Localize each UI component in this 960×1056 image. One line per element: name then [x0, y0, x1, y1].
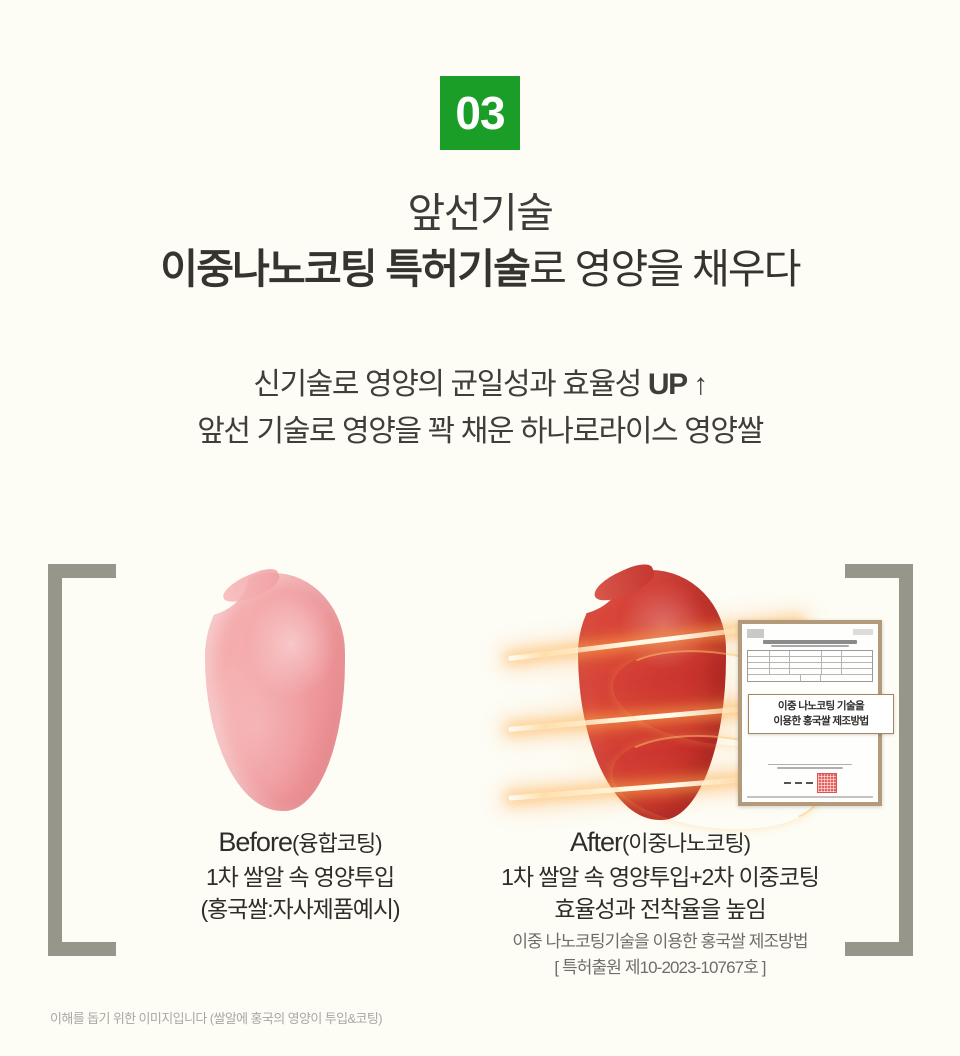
caption-after-line-1: 1차 쌀알 속 영양투입+2차 이중코팅 [440, 861, 880, 893]
certificate-topbar [747, 629, 873, 638]
rice-grain-after-image [578, 570, 726, 820]
certificate-callout-line-2: 이용한 홍국쌀 제조방법 [754, 714, 888, 729]
heading-block: 앞선기술 이중나노코팅 특허기술로 영양을 채우다 [0, 188, 960, 294]
section-number-text: 03 [455, 90, 504, 136]
caption-before-line-1: 1차 쌀알 속 영양투입 [120, 861, 480, 893]
certificate-subtitle-line [771, 645, 849, 648]
subheading-line-1: 신기술로 영양의 균일성과 효율성 UP ↑ [0, 362, 960, 409]
subheading-line-1-emphasis: UP ↑ [648, 368, 707, 401]
caption-before: Before(융합코팅) 1차 쌀알 속 영양투입 (홍국쌀:자사제품예시) [120, 825, 480, 925]
subheading-block: 신기술로 영양의 균일성과 효율성 UP ↑ 앞선 기술로 영양을 꽉 채운 하… [0, 362, 960, 455]
heading-line-1: 앞선기술 [0, 188, 960, 238]
certificate-bottom-line [747, 796, 873, 798]
certificate-table [747, 650, 873, 682]
comparison-stage: 이중 나노코팅 기술을 이용한 홍국쌀 제조방법 Before(융합코팅) 1차… [0, 540, 960, 1000]
caption-after: After(이중나노코팅) 1차 쌀알 속 영양투입+2차 이중코팅 효율성과 … [440, 825, 880, 980]
caption-after-title: After(이중나노코팅) [440, 825, 880, 861]
heading-line-2-strong: 이중나노코팅 특허기술 [160, 246, 529, 292]
certificate-title-line [763, 640, 856, 644]
certificate-table-row [748, 675, 872, 681]
official-seal-stamp-icon [817, 773, 837, 793]
certificate-footer [747, 761, 873, 798]
caption-after-line-2: 효율성과 전착율을 높임 [440, 893, 880, 925]
certificate-barcode-icon [853, 629, 873, 635]
caption-before-title-en: Before [218, 827, 292, 857]
certificate-logo-icon [747, 629, 764, 638]
heading-line-2: 이중나노코팅 특허기술로 영양을 채우다 [0, 244, 960, 294]
certificate-callout-line-1: 이중 나노코팅 기술을 [754, 699, 888, 714]
heading-line-2-normal: 로 영양을 채우다 [529, 246, 800, 292]
section-number-badge: 03 [440, 76, 520, 150]
caption-before-title-ko: (융합코팅) [292, 831, 382, 856]
subheading-line-1-text: 신기술로 영양의 균일성과 효율성 [253, 368, 648, 401]
caption-after-title-ko: (이중나노코팅) [622, 831, 750, 856]
caption-after-patent-number: [ 특허출원 제10-2023-10767호 ] [440, 955, 880, 981]
certificate-callout-box: 이중 나노코팅 기술을 이용한 홍국쌀 제조방법 [748, 694, 894, 734]
caption-after-title-en: After [570, 827, 622, 857]
caption-before-line-2: (홍국쌀:자사제품예시) [120, 893, 480, 925]
rice-grain-before-image [205, 573, 345, 811]
footnote-disclaimer: 이해를 돕기 위한 이미지입니다 (쌀알에 홍국의 영양이 투입&코팅) [50, 1008, 382, 1027]
caption-after-patent-name: 이중 나노코팅기술을 이용한 홍국쌀 제조방법 [440, 929, 880, 955]
subheading-line-2: 앞선 기술로 영양을 꽉 채운 하나로라이스 영양쌀 [0, 409, 960, 456]
caption-before-title: Before(융합코팅) [120, 825, 480, 861]
certificate-signature-row [747, 773, 873, 793]
